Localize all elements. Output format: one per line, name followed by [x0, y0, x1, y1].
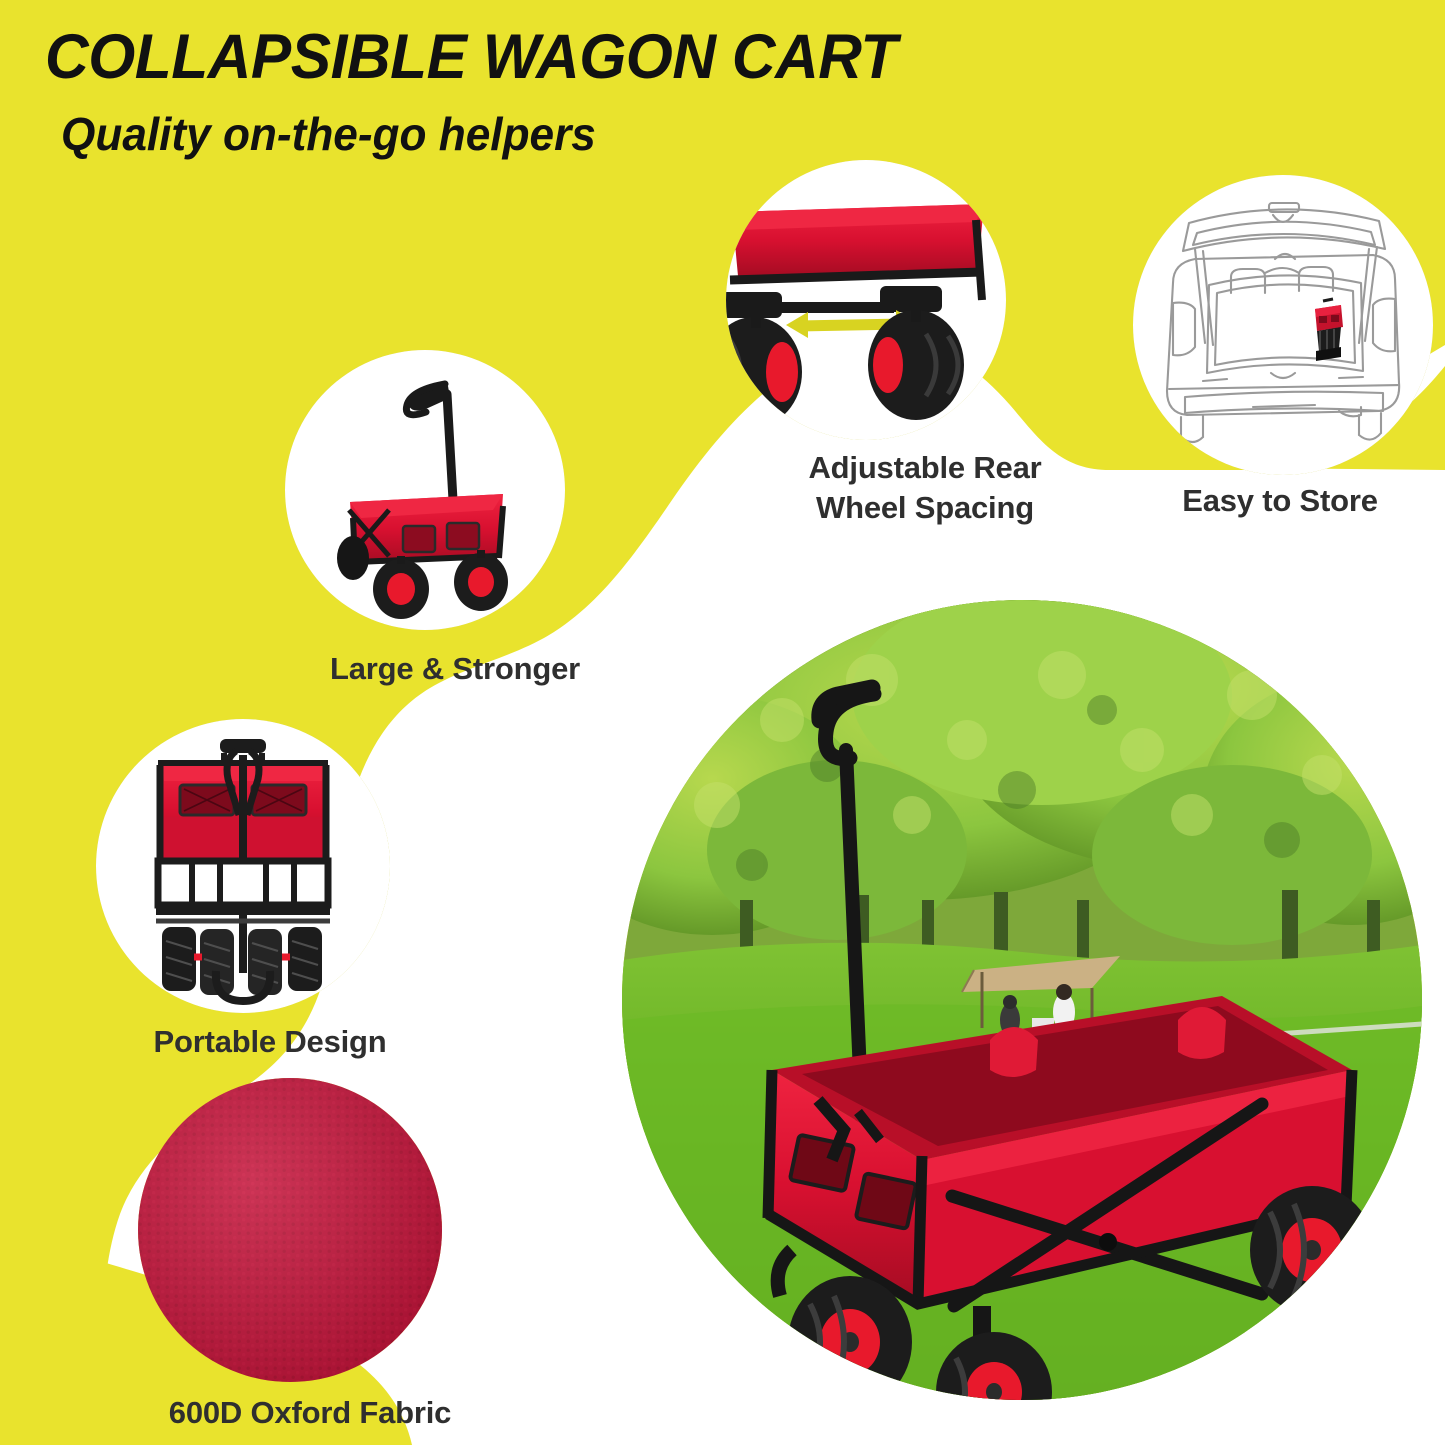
- feature-circle-oxford-fabric: [138, 1078, 442, 1382]
- wagon-rear-wheels-icon: [726, 160, 1006, 440]
- feature-label-easy-to-store: Easy to Store: [1105, 481, 1445, 521]
- feature-label-adjustable-rear-wheel-spacing: Adjustable Rear Wheel Spacing: [690, 448, 1160, 527]
- wagon-folded-icon: [96, 719, 390, 1013]
- feature-circle-adjustable-rear-wheel-spacing: [726, 160, 1006, 440]
- page-subtitle: Quality on-the-go helpers: [61, 111, 1054, 157]
- feature-label-large-stronger: Large & Stronger: [255, 649, 655, 689]
- header-block: COLLAPSIBLE WAGON CART Quality on-the-go…: [45, 26, 1095, 157]
- wagon-side-view-icon: [285, 350, 565, 630]
- feature-circle-portable-design: [96, 719, 390, 1013]
- feature-label-portable-design: Portable Design: [70, 1022, 470, 1062]
- feature-circle-easy-to-store: [1133, 175, 1433, 475]
- fabric-swatch-icon: [138, 1078, 442, 1382]
- suv-trunk-icon: [1133, 175, 1433, 475]
- hero-photo-circle: [622, 600, 1422, 1400]
- page-title: COLLAPSIBLE WAGON CART: [45, 26, 1053, 89]
- wagon-hero-photo-icon: [622, 600, 1422, 1400]
- infographic-canvas: COLLAPSIBLE WAGON CART Quality on-the-go…: [0, 0, 1445, 1445]
- feature-circle-large-stronger: [285, 350, 565, 630]
- feature-label-oxford-fabric: 600D Oxford Fabric: [95, 1393, 525, 1433]
